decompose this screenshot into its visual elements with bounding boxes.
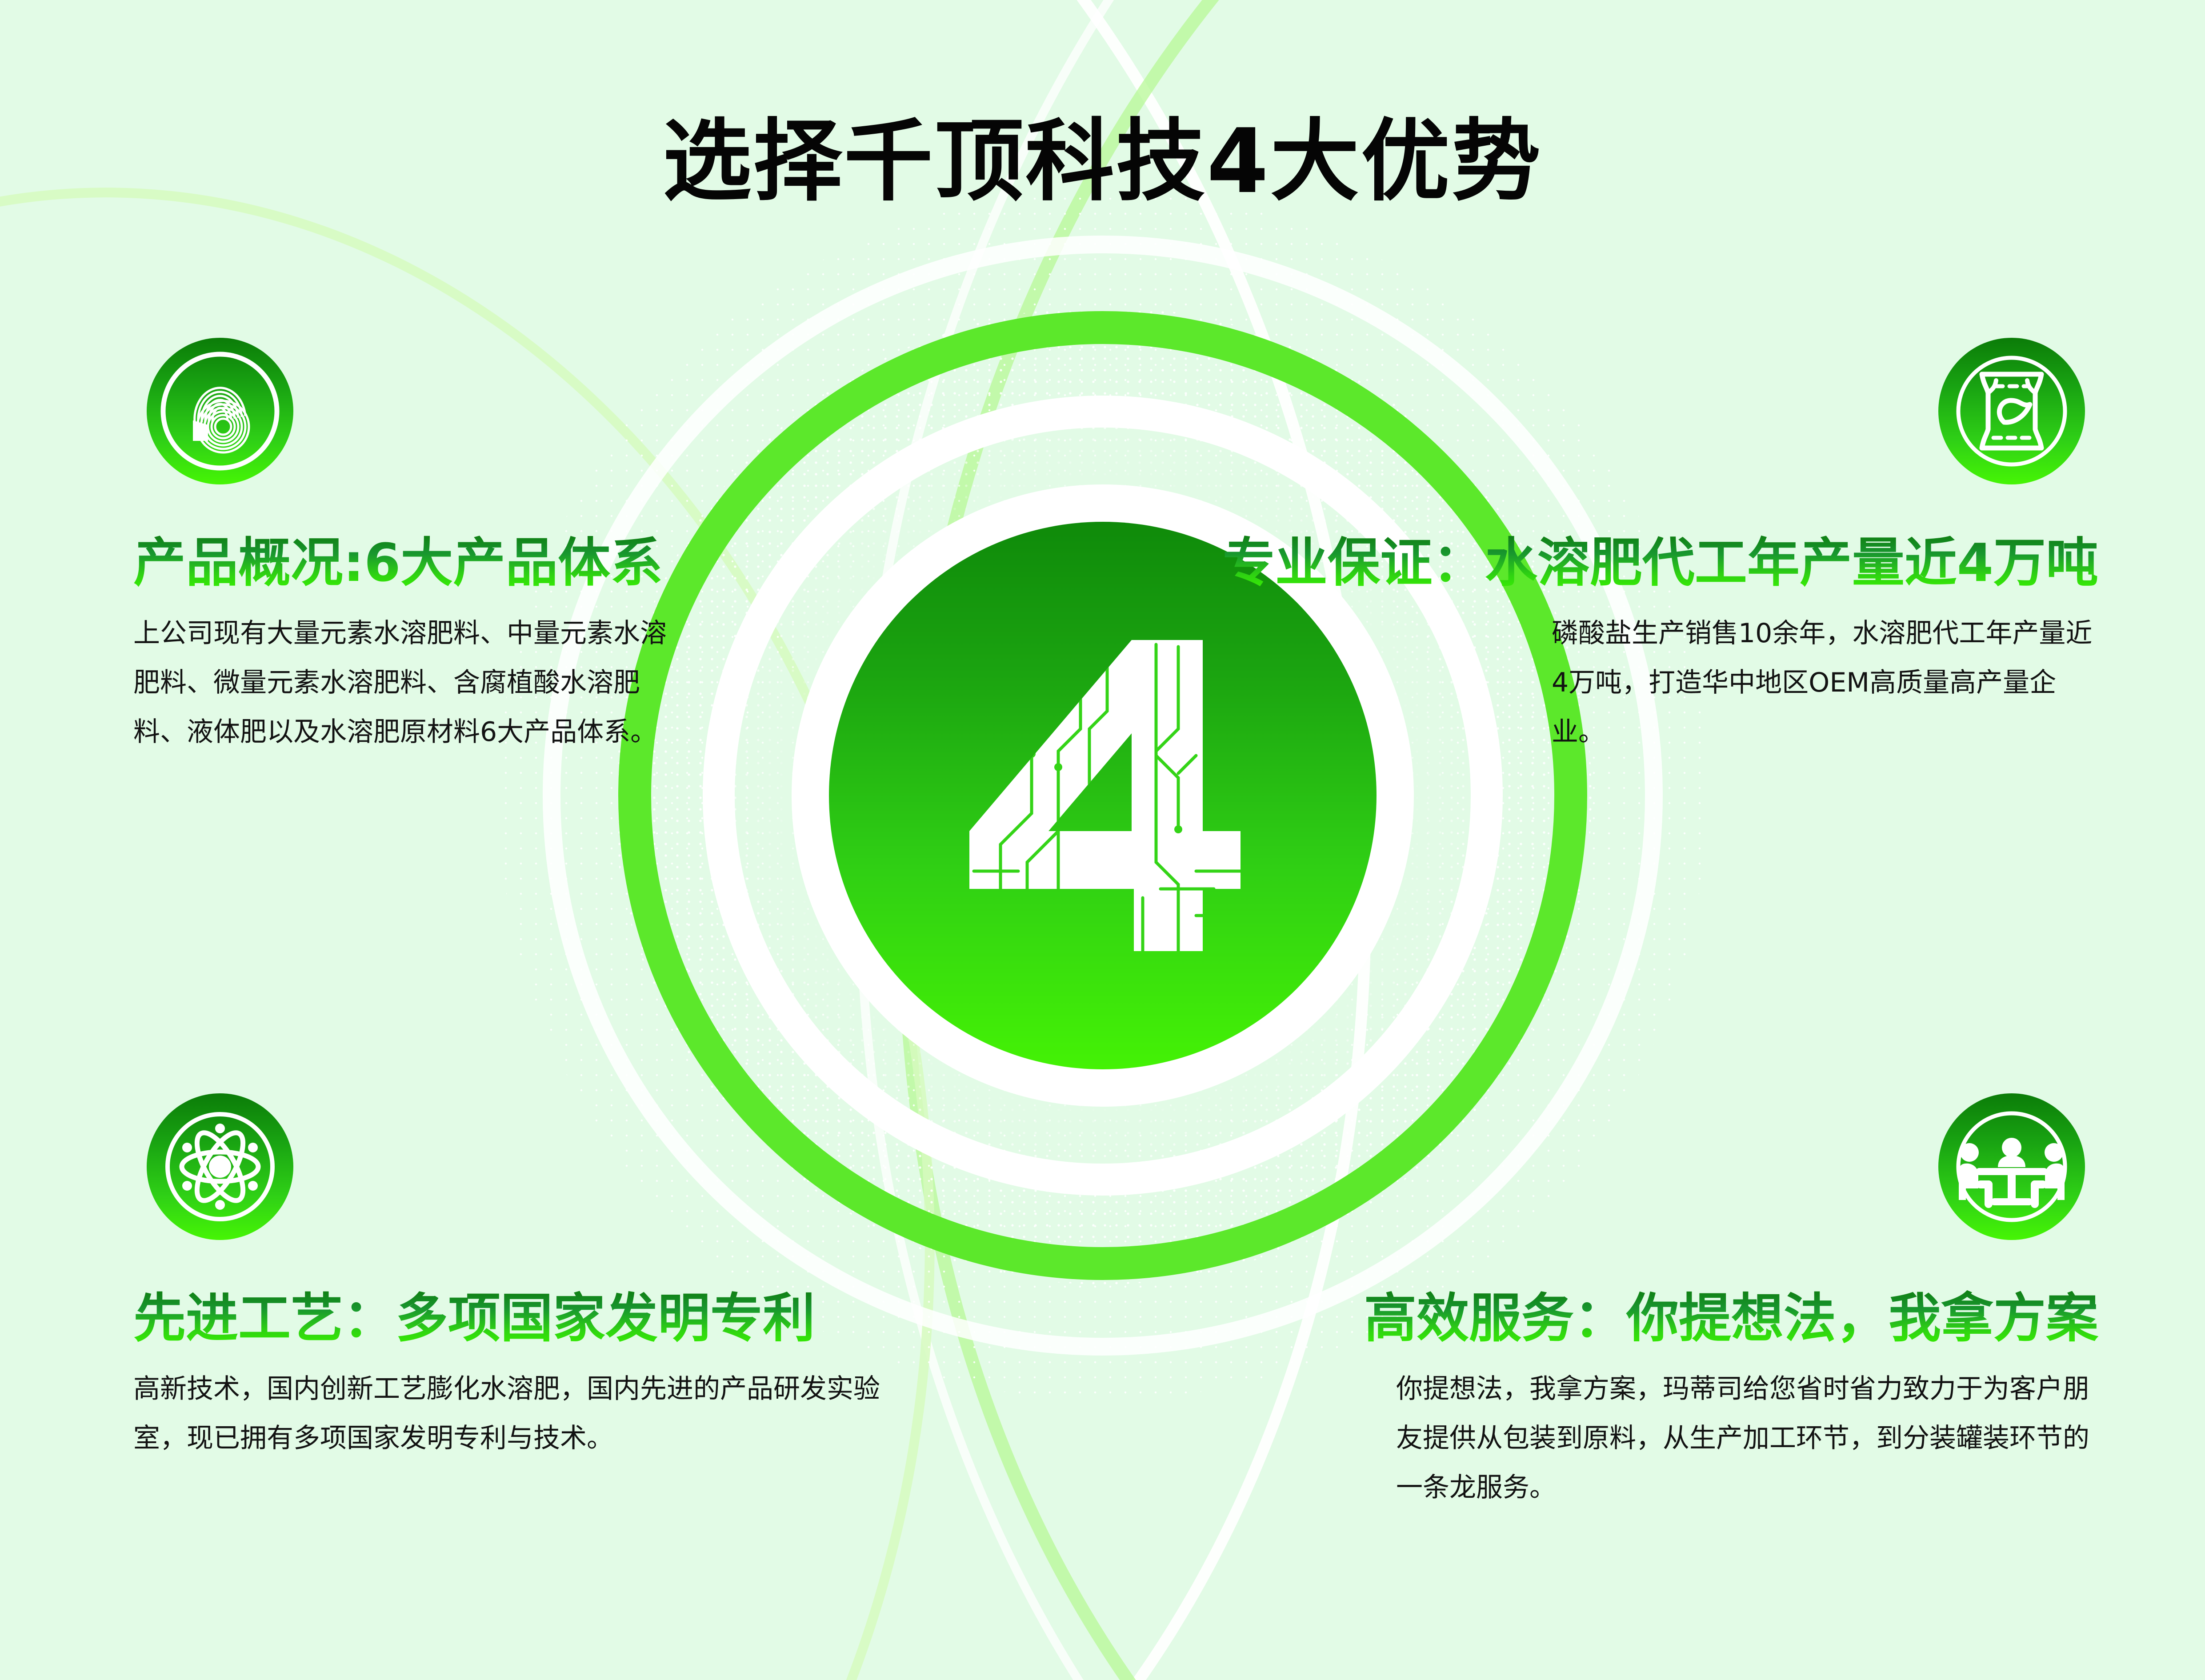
feature-heading: 高效服务：你提想法，我拿方案: [1364, 1289, 2098, 1348]
page-title: 选择千顶科技4大优势: [0, 89, 2205, 218]
feature-body-text: 磷酸盐生产销售10余年，水溶肥代工年产量近4万吨，打造华中地区OEM高质量高产量…: [1552, 609, 2098, 757]
feature-heading: 产品概况:6大产品体系: [133, 533, 663, 592]
feature-heading: 专业保证：水溶肥代工年产量近4万吨: [1223, 533, 2098, 592]
tech-circuit-number-4-icon: [947, 622, 1258, 969]
feature-body-text: 上公司现有大量元素水溶肥料、中量元素水溶肥料、微量元素水溶肥料、含腐植酸水溶肥料…: [133, 609, 689, 757]
feature-body-text: 高新技术，国内创新工艺膨化水溶肥，国内先进的产品研发实验室，现已拥有多项国家发明…: [133, 1364, 898, 1463]
fertilizer-bag-glyph: [1938, 338, 2085, 484]
number-six-rings-icon: [147, 338, 293, 484]
meeting-table-people-glyph: [1938, 1093, 2085, 1240]
fertilizer-bag-icon: [1938, 338, 2085, 484]
infographic-canvas: 选择千顶科技4大优势: [0, 0, 2205, 1680]
feature-heading: 先进工艺：多项国家发明专利: [133, 1289, 815, 1348]
atom-glyph: [147, 1093, 293, 1240]
feature-body-text: 你提想法，我拿方案，玛蒂司给您省时省力致力于为客户朋友提供从包装到原料，从生产加…: [1396, 1364, 2098, 1512]
meeting-table-people-icon: [1938, 1093, 2085, 1240]
number-six-rings-glyph: [147, 338, 293, 484]
center-number-badge: [829, 522, 1377, 1069]
atom-icon: [147, 1093, 293, 1240]
